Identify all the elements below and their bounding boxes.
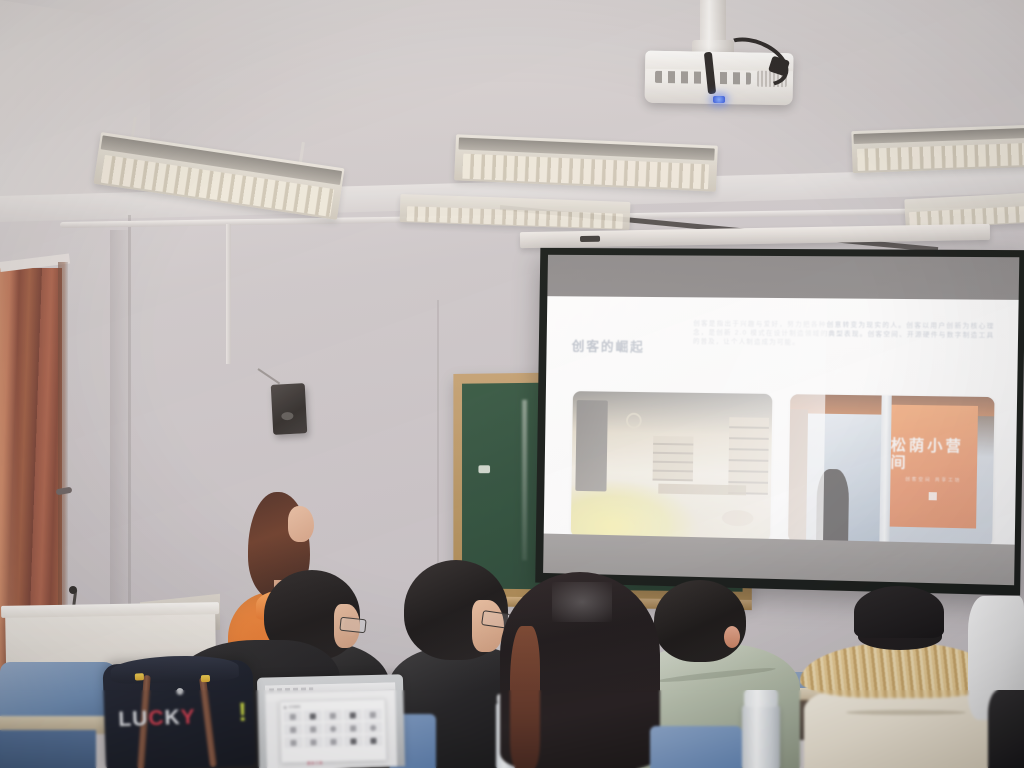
grid-icon-edit[interactable] — [324, 710, 342, 721]
icon-picker-dialog[interactable]: 应用面板 — [279, 699, 386, 764]
grid-icon-table[interactable] — [304, 723, 322, 734]
app-sidebar[interactable] — [265, 701, 279, 768]
bag-logo-text: L U C K Y — [118, 706, 237, 730]
student-dark-shoulder — [988, 690, 1024, 768]
bag-logo-letter-3: C — [148, 709, 164, 730]
thermos-lid[interactable] — [744, 690, 778, 707]
grid-icon-folder[interactable] — [284, 737, 302, 748]
laptop-screen[interactable]: 应用面板 — [265, 682, 397, 768]
thermos-bottle[interactable] — [742, 704, 780, 768]
grid-icon-pen[interactable] — [344, 722, 362, 733]
classroom-chair[interactable] — [0, 730, 96, 768]
grid-icon-camera[interactable] — [364, 735, 382, 746]
icon-grid[interactable] — [284, 709, 383, 748]
coat-seam — [846, 710, 966, 715]
auburn-hair-highlight — [510, 626, 540, 768]
student-center-long-hair — [500, 572, 660, 768]
bag-logo-letter-5: Y — [180, 707, 195, 727]
toolbar-buttons[interactable] — [269, 687, 313, 691]
dialog-title: 应用面板 — [289, 705, 301, 709]
backpack-bag[interactable]: L U C K Y ! — [102, 645, 256, 768]
grid-icon-grid[interactable] — [364, 709, 382, 720]
bag-buckle — [201, 675, 210, 682]
dialog-bullet-icon — [284, 706, 287, 709]
student-laptop[interactable]: 应用面板 — [257, 674, 405, 768]
student-head — [654, 580, 746, 662]
grid-icon-shape[interactable] — [364, 722, 382, 733]
grid-icon-crop[interactable] — [324, 736, 342, 747]
hair-highlight-sheen — [552, 582, 612, 622]
dialog-footer-text: 更多工具 — [307, 761, 323, 766]
grid-icon-brush[interactable] — [324, 723, 342, 734]
grid-icon-chart[interactable] — [284, 724, 302, 735]
bag-logo-letter-1: L — [118, 710, 132, 730]
grid-icon-film[interactable] — [344, 735, 362, 746]
bag-top-flap — [110, 654, 239, 684]
presenter-face — [288, 506, 314, 542]
grid-icon-layers[interactable] — [344, 709, 362, 720]
student-ear — [724, 626, 740, 648]
eyeglasses — [339, 617, 366, 634]
bag-logo-letter-2: U — [132, 709, 148, 730]
grid-icon-link[interactable] — [304, 736, 322, 747]
bag-buckle — [135, 673, 144, 680]
grid-icon-document[interactable] — [284, 711, 302, 722]
black-cap — [854, 586, 944, 638]
classroom-photo-scene: 创客的崛起 创客是指出于兴趣与爱好，努力把各种创意转变为现实的人。创客以用户创新… — [0, 0, 1024, 768]
grid-icon-image[interactable] — [304, 710, 322, 721]
classroom-chair[interactable] — [650, 726, 742, 768]
bag-logo-letter-4: K — [164, 708, 180, 729]
bag-logo-exclamation: ! — [238, 700, 248, 724]
